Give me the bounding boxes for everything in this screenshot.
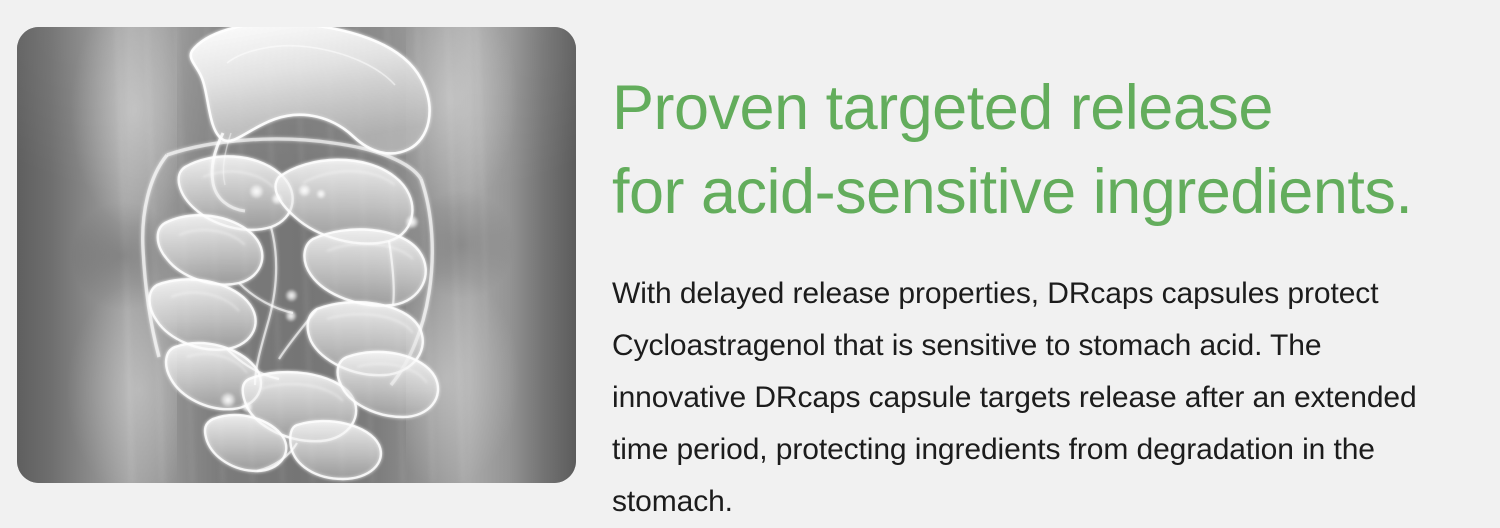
body-line-4: time period, protecting ingredients from…	[612, 424, 1462, 476]
headline-line-1: Proven targeted release	[612, 66, 1482, 150]
body-line-5: stomach.	[612, 476, 1462, 528]
text-column: Proven targeted release for acid-sensiti…	[612, 0, 1482, 503]
stomach-shape	[191, 27, 430, 153]
product-feature-banner: Proven targeted release for acid-sensiti…	[0, 0, 1500, 503]
intestine-loop	[290, 421, 381, 479]
body-line-1: With delayed release properties, DRcaps …	[612, 268, 1462, 320]
intestine-loop	[150, 279, 256, 349]
digestive-organs-illustration	[17, 27, 576, 483]
headline-line-2: for acid-sensitive ingredients.	[612, 150, 1482, 234]
body-paragraph: With delayed release properties, DRcaps …	[612, 268, 1462, 528]
intestine-loop	[304, 229, 425, 305]
body-line-3: innovative DRcaps capsule targets releas…	[612, 372, 1462, 424]
abdominal-xray-image	[17, 27, 576, 483]
headline: Proven targeted release for acid-sensiti…	[612, 66, 1482, 234]
body-line-2: Cycloastragenol that is sensitive to sto…	[612, 320, 1462, 372]
